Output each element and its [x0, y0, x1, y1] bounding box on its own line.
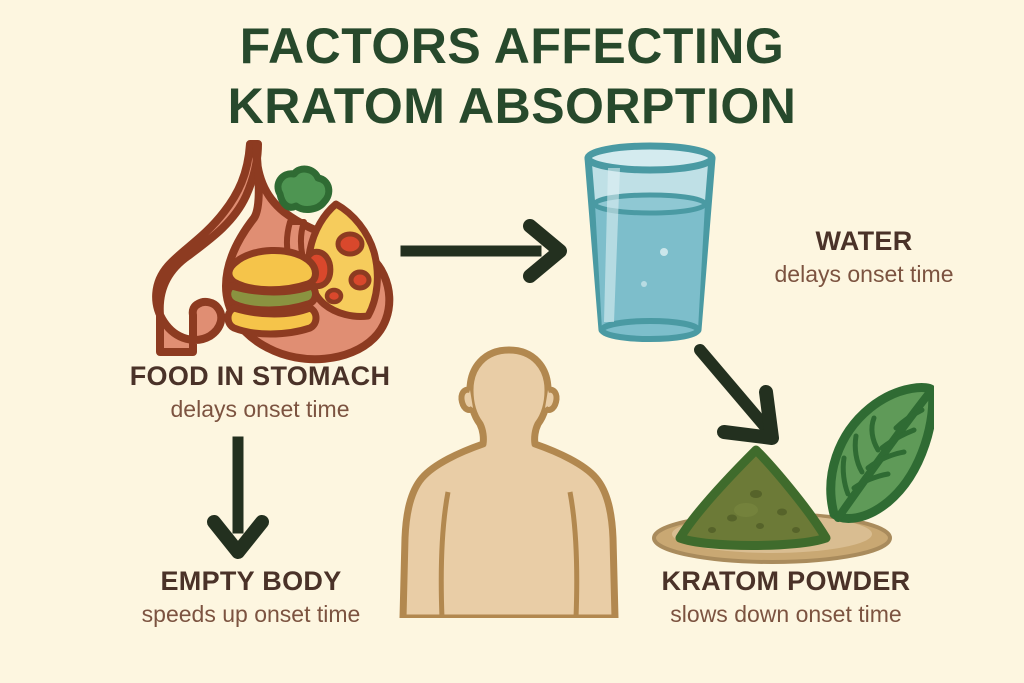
label-kratom-powder: KRATOM POWDER slows down onset time [596, 565, 976, 629]
infographic-canvas: FACTORS AFFECTING KRATOM ABSORPTION [0, 0, 1024, 683]
kratom-powder-leaf-icon [648, 372, 934, 564]
stomach-with-food-icon [138, 140, 428, 370]
label-empty-body: EMPTY BODY speeds up onset time [78, 565, 424, 629]
title-line-2: KRATOM ABSORPTION [0, 76, 1024, 136]
label-water-subtitle: delays onset time [716, 259, 1012, 289]
label-powder-heading: KRATOM POWDER [596, 565, 976, 597]
human-body-silhouette-icon [396, 346, 622, 618]
arrow-food-to-empty-body [192, 436, 288, 564]
arrow-stomach-to-water [396, 212, 580, 290]
infographic-title: FACTORS AFFECTING KRATOM ABSORPTION [0, 16, 1024, 136]
label-water-heading: WATER [716, 225, 1012, 257]
label-powder-subtitle: slows down onset time [596, 599, 976, 629]
title-line-1: FACTORS AFFECTING [0, 16, 1024, 76]
label-empty-subtitle: speeds up onset time [78, 599, 424, 629]
label-water: WATER delays onset time [716, 225, 1012, 289]
water-glass-icon [572, 142, 728, 348]
label-empty-heading: EMPTY BODY [78, 565, 424, 597]
